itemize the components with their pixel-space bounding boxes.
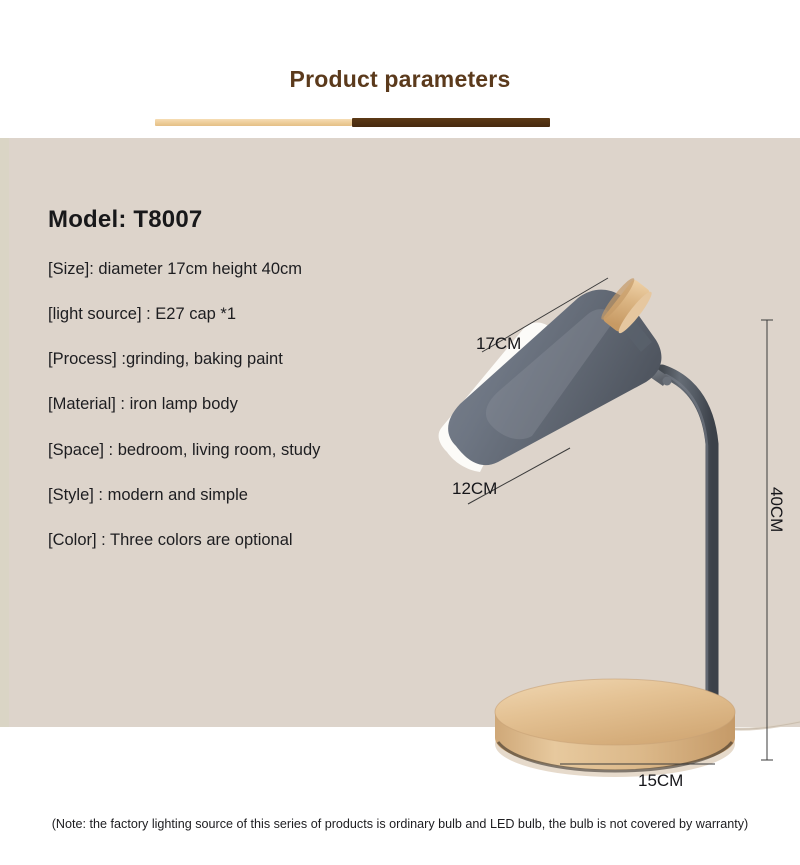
dimension-label-15cm: 15CM <box>638 771 683 791</box>
dimension-line-40cm <box>761 320 773 760</box>
model-name: Model: T8007 <box>48 206 448 234</box>
specification-list: Model: T8007 [Size]: diameter 17cm heigh… <box>48 206 448 576</box>
lamp-shade <box>439 276 662 472</box>
page-title: Product parameters <box>0 66 800 93</box>
divider-light-segment <box>155 119 352 126</box>
spec-item-style: [Style] : modern and simple <box>48 486 448 504</box>
panel-left-edge <box>0 138 9 727</box>
product-image-desk-lamp: 17CM 12CM 15CM 40CM <box>420 276 800 865</box>
lamp-arm-highlight <box>666 375 707 702</box>
dimension-label-12cm: 12CM <box>452 479 497 499</box>
lamp-arm <box>662 371 712 706</box>
product-parameters-page: Product parameters Model: T8007 [Size]: … <box>0 0 800 800</box>
dimension-label-17cm: 17CM <box>476 334 521 354</box>
title-divider <box>155 118 550 127</box>
spec-item-light-source: [light source] : E27 cap *1 <box>48 305 448 323</box>
spec-item-color: [Color] : Three colors are optional <box>48 531 448 549</box>
spec-item-process: [Process] :grinding, baking paint <box>48 350 448 368</box>
lamp-base <box>495 679 735 777</box>
spec-item-size: [Size]: diameter 17cm height 40cm <box>48 260 448 278</box>
content-panel: Model: T8007 [Size]: diameter 17cm heigh… <box>0 138 800 727</box>
spec-item-space: [Space] : bedroom, living room, study <box>48 441 448 459</box>
header: Product parameters <box>0 0 800 138</box>
warranty-note: (Note: the factory lighting source of th… <box>0 817 800 831</box>
divider-dark-segment <box>352 118 550 127</box>
spec-item-material: [Material] : iron lamp body <box>48 395 448 413</box>
dimension-label-40cm: 40CM <box>766 487 786 532</box>
